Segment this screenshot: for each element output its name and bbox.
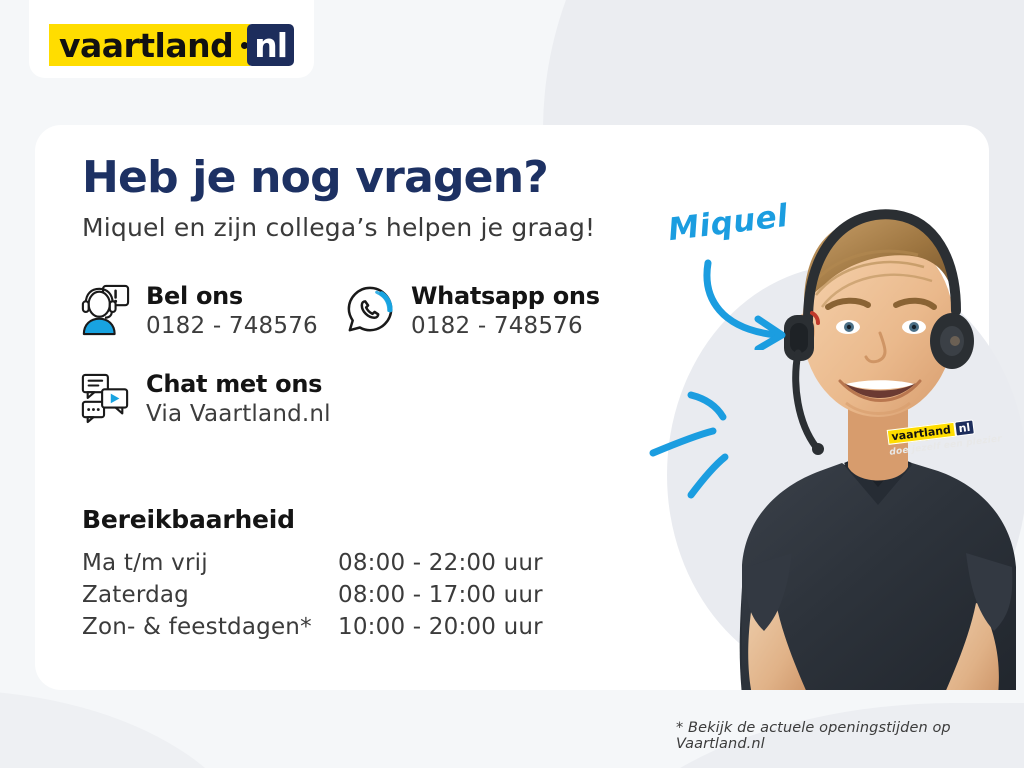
poster-canvas: vaartland nl <box>0 0 1024 768</box>
curved-arrow-icon <box>700 255 805 350</box>
contact-item-chat[interactable]: Chat met ons Via Vaartland.nl <box>80 372 331 431</box>
table-row: Zaterdag 08:00 - 17:00 uur <box>82 579 543 611</box>
hours-time: 10:00 - 20:00 uur <box>338 611 543 643</box>
hours-day: Zon- & feestdagen* <box>82 611 338 643</box>
contact-value-call: 0182 - 748576 <box>146 310 318 343</box>
decorative-spark-strokes-icon <box>645 365 750 500</box>
contact-item-whatsapp[interactable]: Whatsapp ons 0182 - 748576 <box>345 284 600 343</box>
whatsapp-icon <box>345 284 395 336</box>
footnote-text: * Bekijk de actuele openingstijden op Va… <box>676 720 1024 752</box>
contact-value-whatsapp: 0182 - 748576 <box>411 310 600 343</box>
hours-time: 08:00 - 17:00 uur <box>338 579 543 611</box>
contact-title-chat: Chat met ons <box>146 372 331 398</box>
table-row: Ma t/m vrij 08:00 - 22:00 uur <box>82 547 543 579</box>
logo-wordmark: vaartland <box>49 24 241 66</box>
contact-title-whatsapp: Whatsapp ons <box>411 284 600 310</box>
hours-day: Ma t/m vrij <box>82 547 338 579</box>
page-title: Heb je nog vragen? <box>82 152 548 203</box>
contact-item-call[interactable]: Bel ons 0182 - 748576 <box>80 284 318 343</box>
headset-operator-icon <box>80 284 130 336</box>
hours-day: Zaterdag <box>82 579 338 611</box>
hours-time: 08:00 - 22:00 uur <box>338 547 543 579</box>
hours-heading: Bereikbaarheid <box>82 505 295 534</box>
table-row: Zon- & feestdagen* 10:00 - 20:00 uur <box>82 611 543 643</box>
contact-value-chat: Via Vaartland.nl <box>146 398 331 431</box>
logo-lockup: vaartland nl <box>49 24 294 66</box>
logo-tld: nl <box>247 24 294 66</box>
chat-bubbles-icon <box>80 372 130 424</box>
contact-title-call: Bel ons <box>146 284 318 310</box>
background-blob-bottom-left <box>0 690 260 768</box>
page-subtitle: Miquel en zijn collega’s helpen je graag… <box>82 213 595 242</box>
opening-hours-table: Ma t/m vrij 08:00 - 22:00 uur Zaterdag 0… <box>82 547 543 643</box>
shirt-logo-tld: nl <box>954 419 975 436</box>
brand-logo[interactable]: vaartland nl <box>29 0 314 78</box>
